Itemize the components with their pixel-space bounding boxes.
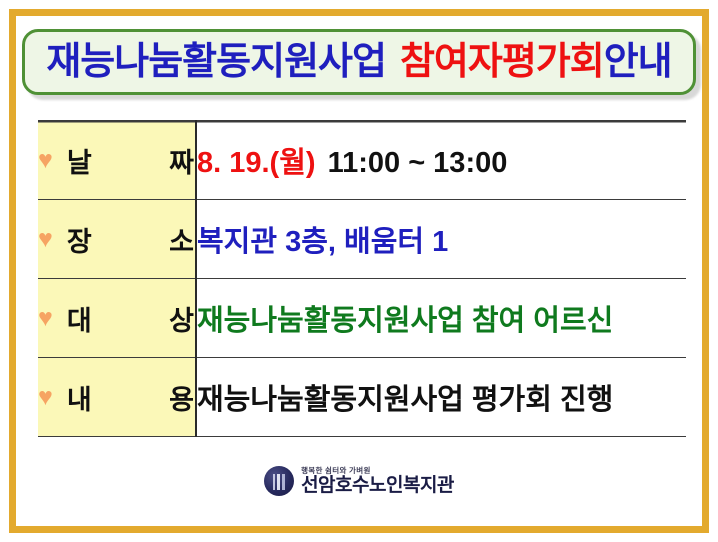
label-char-2: 상 — [169, 299, 195, 338]
time-value: 11:00 ~ 13:00 — [328, 147, 508, 179]
row-value-date: 8. 19.(월)11:00 ~ 13:00 — [196, 121, 686, 200]
label-char-1: 날 — [67, 141, 93, 180]
building-emblem-icon — [264, 466, 294, 496]
row-label-place: ♥ 장 소 — [38, 200, 196, 279]
logo-text-block: 행복한 쉼터와 가벼원 선암호수노인복지관 — [301, 467, 454, 496]
poster-canvas: 재능나눔활동지원사업참여자평가회안내 ♥ 날 짜 8. 19.(월)11:00 … — [0, 0, 718, 542]
title-segment-event: 참여자평가회 — [400, 41, 604, 83]
table-row: ♥ 대 상 재능나눔활동지원사업 참여 어르신 — [38, 279, 686, 358]
date-value: 8. 19.(월) — [197, 147, 316, 179]
title-segment-notice: 안내 — [604, 41, 672, 83]
label-char-1: 장 — [67, 220, 93, 259]
organization-name: 선암호수노인복지관 — [301, 476, 454, 495]
content-value: 재능나눔활동지원사업 평가회 진행 — [197, 384, 613, 416]
heart-icon: ♥ — [38, 385, 53, 410]
row-value-content: 재능나눔활동지원사업 평가회 진행 — [196, 358, 686, 437]
label-char-2: 용 — [169, 378, 195, 417]
row-label-target: ♥ 대 상 — [38, 279, 196, 358]
label-char-1: 대 — [67, 299, 93, 338]
table-row: ♥ 날 짜 8. 19.(월)11:00 ~ 13:00 — [38, 121, 686, 200]
target-value: 재능나눔활동지원사업 참여 어르신 — [197, 305, 613, 337]
table-row: ♥ 장 소 복지관 3층, 배움터 1 — [38, 200, 686, 279]
row-label-date: ♥ 날 짜 — [38, 121, 196, 200]
heart-icon: ♥ — [38, 148, 53, 173]
row-value-target: 재능나눔활동지원사업 참여 어르신 — [196, 279, 686, 358]
title-banner: 재능나눔활동지원사업참여자평가회안내 — [22, 29, 696, 95]
row-value-place: 복지관 3층, 배움터 1 — [196, 200, 686, 279]
table-row: ♥ 내 용 재능나눔활동지원사업 평가회 진행 — [38, 358, 686, 437]
logo-tagline: 행복한 쉼터와 가벼원 — [301, 467, 371, 474]
page-title: 재능나눔활동지원사업참여자평가회안내 — [46, 43, 671, 81]
heart-icon: ♥ — [38, 227, 53, 252]
label-char-2: 소 — [169, 220, 195, 259]
title-banner-container: 재능나눔활동지원사업참여자평가회안내 — [22, 29, 696, 95]
event-details-table: ♥ 날 짜 8. 19.(월)11:00 ~ 13:00 ♥ — [38, 120, 686, 437]
footer-logo: 행복한 쉼터와 가벼원 선암호수노인복지관 — [0, 466, 718, 496]
heart-icon: ♥ — [38, 306, 53, 331]
row-label-content: ♥ 내 용 — [38, 358, 196, 437]
place-value: 복지관 3층, 배움터 1 — [197, 226, 448, 258]
title-segment-program: 재능나눔활동지원사업 — [46, 41, 386, 83]
label-char-2: 짜 — [169, 141, 195, 180]
label-char-1: 내 — [67, 378, 93, 417]
